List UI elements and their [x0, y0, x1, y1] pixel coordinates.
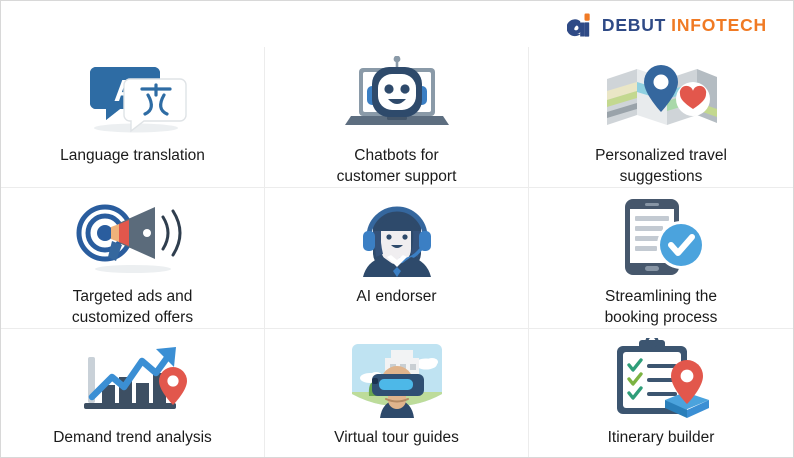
chatbot-laptop-icon	[265, 53, 528, 139]
clipboard-checklist-map-icon	[529, 335, 793, 421]
feature-label: Language translation	[60, 145, 205, 166]
vr-headset-tour-icon	[265, 335, 528, 421]
map-location-heart-icon	[529, 53, 793, 139]
feature-label: Personalized travel suggestions	[595, 145, 727, 187]
header: DEBUTINFOTECH	[1, 1, 793, 47]
infographic-page: DEBUTINFOTECH A	[0, 0, 794, 458]
brand-logo: DEBUTINFOTECH	[567, 12, 767, 39]
mobile-checkmark-icon	[529, 194, 793, 280]
feature-label: Streamlining the booking process	[605, 286, 718, 328]
debut-infotech-logo-icon	[567, 12, 594, 39]
feature-label: Virtual tour guides	[334, 427, 459, 448]
megaphone-target-icon	[1, 194, 264, 280]
feature-cell-personalized-travel: Personalized travel suggestions	[529, 47, 793, 188]
feature-cell-ai-endorser: AI endorser	[265, 188, 529, 329]
brand-name-debut: DEBUT	[602, 15, 666, 35]
language-translation-icon: A	[1, 53, 264, 139]
feature-grid: A Language translation	[1, 47, 793, 457]
feature-label: Demand trend analysis	[53, 427, 212, 448]
feature-cell-booking-process: Streamlining the booking process	[529, 188, 793, 329]
feature-label: AI endorser	[356, 286, 436, 307]
feature-cell-chatbots: Chatbots for customer support	[265, 47, 529, 188]
brand-wordmark: DEBUTINFOTECH	[602, 17, 767, 35]
feature-cell-language-translation: A Language translation	[1, 47, 265, 188]
bar-chart-trend-pin-icon	[1, 335, 264, 421]
feature-cell-demand-trend: Demand trend analysis	[1, 329, 265, 457]
brand-name-infotech: INFOTECH	[671, 15, 767, 35]
feature-label: Targeted ads and customized offers	[72, 286, 193, 328]
feature-cell-virtual-tour: Virtual tour guides	[265, 329, 529, 457]
feature-cell-targeted-ads: Targeted ads and customized offers	[1, 188, 265, 329]
headset-agent-icon	[265, 194, 528, 280]
feature-cell-itinerary-builder: Itinerary builder	[529, 329, 793, 457]
feature-label: Itinerary builder	[608, 427, 715, 448]
feature-label: Chatbots for customer support	[337, 145, 457, 187]
